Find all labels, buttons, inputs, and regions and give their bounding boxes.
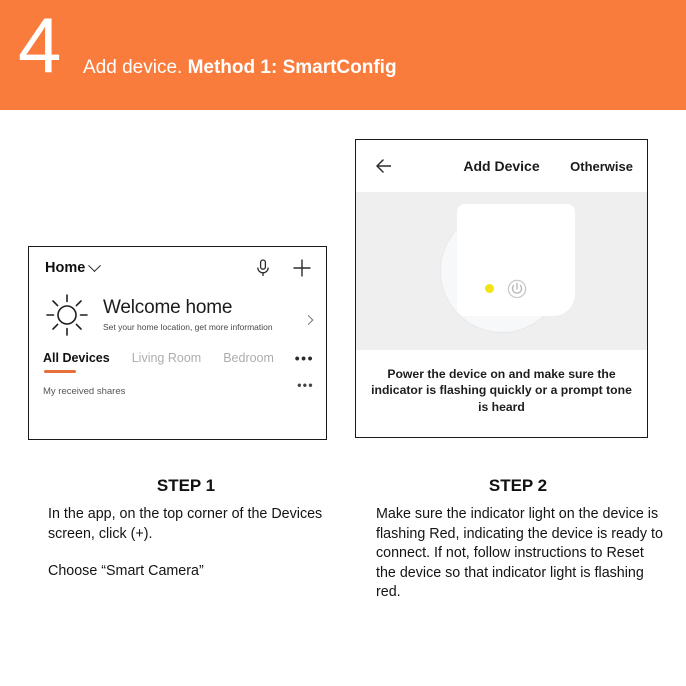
home-selector[interactable]: Home <box>45 260 99 276</box>
step-2-heading: STEP 2 <box>370 476 666 496</box>
power-icon <box>505 277 529 301</box>
tab-living-room[interactable]: Living Room <box>132 351 201 369</box>
sun-icon <box>43 291 91 339</box>
step-1-heading: STEP 1 <box>34 476 338 496</box>
tab-bedroom[interactable]: Bedroom <box>223 351 274 369</box>
welcome-subtitle: Set your home location, get more informa… <box>103 322 273 333</box>
header-banner: 4 Add device. Method 1: SmartConfig <box>0 0 686 110</box>
device-tabs: All Devices Living Room Bedroom ••• <box>29 345 326 369</box>
indicator-led-icon <box>485 284 494 293</box>
plus-icon[interactable] <box>292 258 312 278</box>
step-1-paragraph-2: Choose “Smart Camera” <box>48 562 338 582</box>
step-number: 4 <box>18 6 59 84</box>
microphone-icon[interactable] <box>256 259 270 277</box>
step-1-paragraph-1: In the app, on the top corner of the Dev… <box>48 505 338 544</box>
step-2-paragraph-1: Make sure the indicator light on the dev… <box>376 505 666 603</box>
welcome-title: Welcome home <box>103 297 312 319</box>
device-illustration-stage <box>356 192 647 350</box>
received-shares-overflow-button[interactable]: ••• <box>297 378 314 392</box>
home-selector-label: Home <box>45 260 85 276</box>
received-shares-row[interactable]: My received shares ••• <box>29 369 326 399</box>
chevron-down-icon <box>88 259 101 272</box>
step-1-block: STEP 1 In the app, on the top corner of … <box>48 476 338 582</box>
home-topbar: Home <box>29 247 326 289</box>
welcome-card[interactable]: Welcome home Set your home location, get… <box>29 289 326 345</box>
step-1-body: In the app, on the top corner of the Dev… <box>48 505 338 582</box>
back-arrow-icon[interactable] <box>374 156 394 176</box>
received-shares-label: My received shares <box>43 386 125 397</box>
otherwise-button[interactable]: Otherwise <box>570 159 633 174</box>
step-2-body: Make sure the indicator light on the dev… <box>376 505 666 603</box>
home-screen-screenshot: Home <box>28 246 327 440</box>
welcome-text: Welcome home Set your home location, get… <box>103 297 312 333</box>
add-device-topbar: Add Device Otherwise <box>356 140 647 192</box>
device-circle-backdrop <box>440 209 564 333</box>
tab-all-devices[interactable]: All Devices <box>43 351 110 369</box>
add-device-screen-screenshot: Add Device Otherwise Power the device on… <box>355 139 648 438</box>
page-title: Add device. Method 1: SmartConfig <box>83 57 397 79</box>
add-device-caption: Power the device on and make sure the in… <box>356 350 647 415</box>
page-title-light: Add device. <box>83 57 188 78</box>
tabs-overflow-button[interactable]: ••• <box>295 350 314 366</box>
page-title-bold: Method 1: SmartConfig <box>188 57 397 78</box>
step-2-block: STEP 2 Make sure the indicator light on … <box>376 476 666 603</box>
home-topbar-actions <box>256 258 312 278</box>
